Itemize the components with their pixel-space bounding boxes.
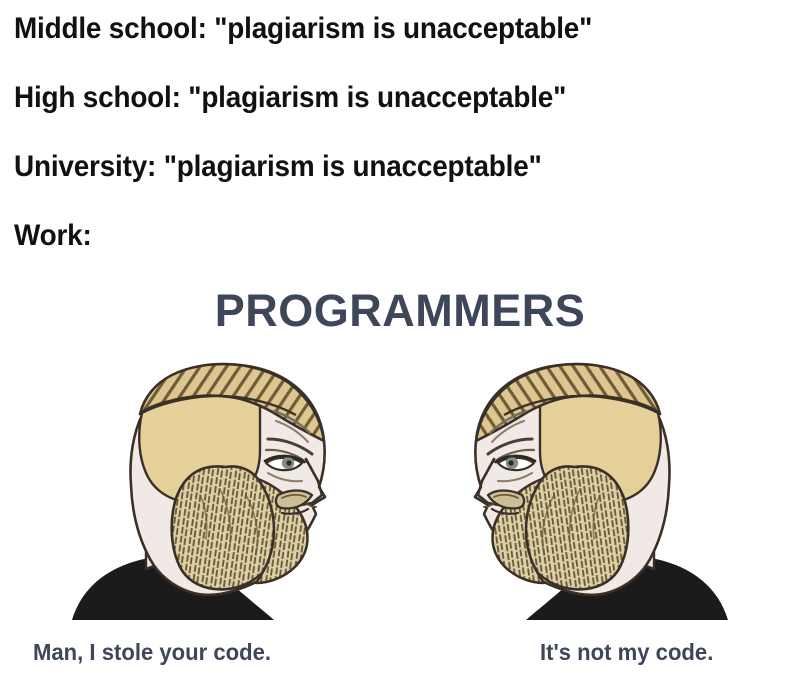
figures-row [0, 355, 800, 620]
top-line-work: Work: [14, 221, 745, 251]
captions-row: Man, I stole your code. It's not my code… [0, 638, 800, 678]
caption-right: It's not my code. [540, 638, 713, 667]
top-line-university: University: "plagiarism is unacceptable" [14, 152, 745, 182]
top-line-middle-school: Middle school: "plagiarism is unacceptab… [14, 14, 745, 44]
top-line-high-school: High school: "plagiarism is unacceptable… [14, 83, 745, 113]
top-text-block: Middle school: "plagiarism is unacceptab… [0, 0, 800, 251]
programmers-heading: PROGRAMMERS [0, 288, 800, 333]
chad-face-right-icon [440, 355, 740, 620]
chad-face-left-icon [60, 355, 360, 620]
caption-left: Man, I stole your code. [33, 638, 271, 667]
